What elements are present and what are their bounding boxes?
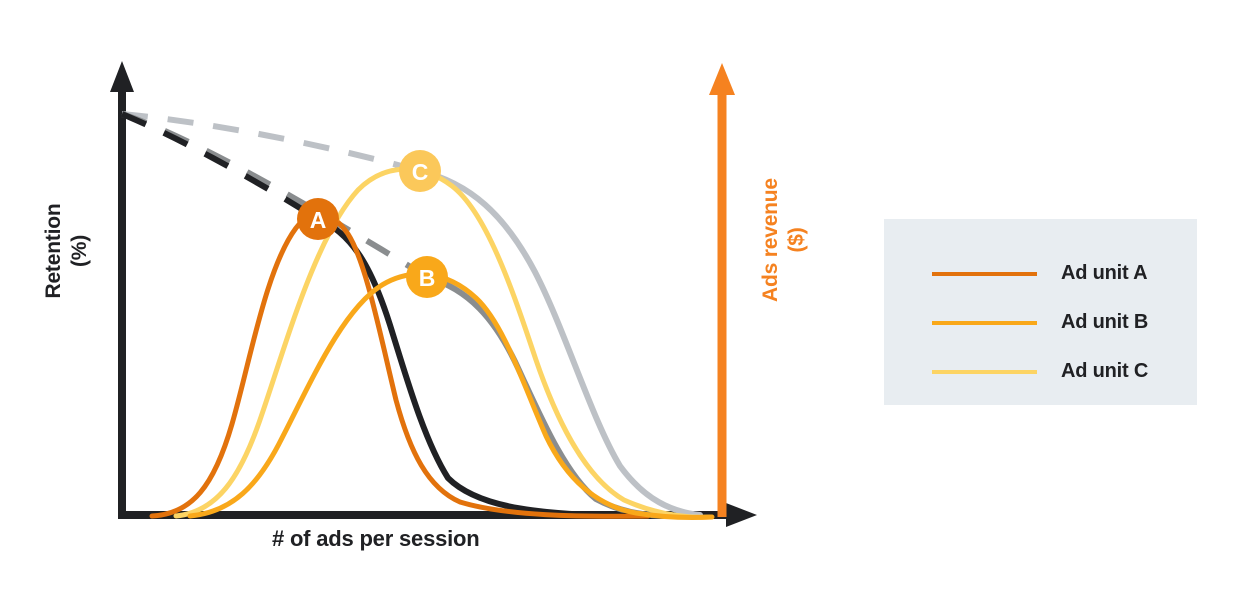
marker-badge-c[interactable]: C bbox=[399, 150, 441, 192]
marker-badge-c-label: C bbox=[412, 159, 429, 185]
y-axis-right-label-unit: ($) bbox=[784, 150, 810, 330]
y-axis-left-label: Retention (%) bbox=[41, 171, 93, 331]
chart-figure: C A B Retention (%) Ads revenue ($) # of… bbox=[0, 0, 1257, 597]
legend-rows: Ad unit A Ad unit B Ad unit C bbox=[884, 249, 1197, 396]
y-axis-left-arrowhead bbox=[110, 61, 134, 92]
retention-curve-a-solid bbox=[318, 219, 648, 516]
retention-curve-b bbox=[122, 114, 672, 516]
chart-legend: Ad unit A Ad unit B Ad unit C bbox=[884, 219, 1197, 405]
x-axis-arrowhead bbox=[726, 503, 757, 527]
legend-label-ad-unit-c: Ad unit C bbox=[1061, 360, 1148, 383]
marker-badge-a[interactable]: A bbox=[297, 198, 339, 240]
y-axis-right-label-line1: Ads revenue bbox=[759, 178, 782, 302]
marker-badge-b-label: B bbox=[419, 265, 436, 291]
legend-swatch-ad-unit-c bbox=[932, 370, 1037, 374]
legend-swatch-ad-unit-b bbox=[932, 321, 1037, 325]
retention-curve-c-dashed bbox=[122, 114, 420, 171]
y-axis-right-label: Ads revenue ($) bbox=[758, 150, 810, 330]
marker-badge-a-label: A bbox=[310, 207, 327, 233]
y-axis-left-label-line1: Retention bbox=[42, 203, 65, 298]
legend-swatch-ad-unit-a bbox=[932, 272, 1037, 276]
legend-item-ad-unit-c[interactable]: Ad unit C bbox=[884, 347, 1197, 396]
y-axis-left-label-unit: (%) bbox=[67, 171, 93, 331]
legend-label-ad-unit-b: Ad unit B bbox=[1061, 311, 1148, 334]
x-axis-label: # of ads per session bbox=[272, 526, 480, 552]
y-axis-right-arrowhead bbox=[709, 63, 735, 95]
legend-item-ad-unit-b[interactable]: Ad unit B bbox=[884, 298, 1197, 347]
legend-label-ad-unit-a: Ad unit A bbox=[1061, 262, 1147, 285]
legend-item-ad-unit-a[interactable]: Ad unit A bbox=[884, 249, 1197, 298]
marker-badge-b[interactable]: B bbox=[406, 256, 448, 298]
